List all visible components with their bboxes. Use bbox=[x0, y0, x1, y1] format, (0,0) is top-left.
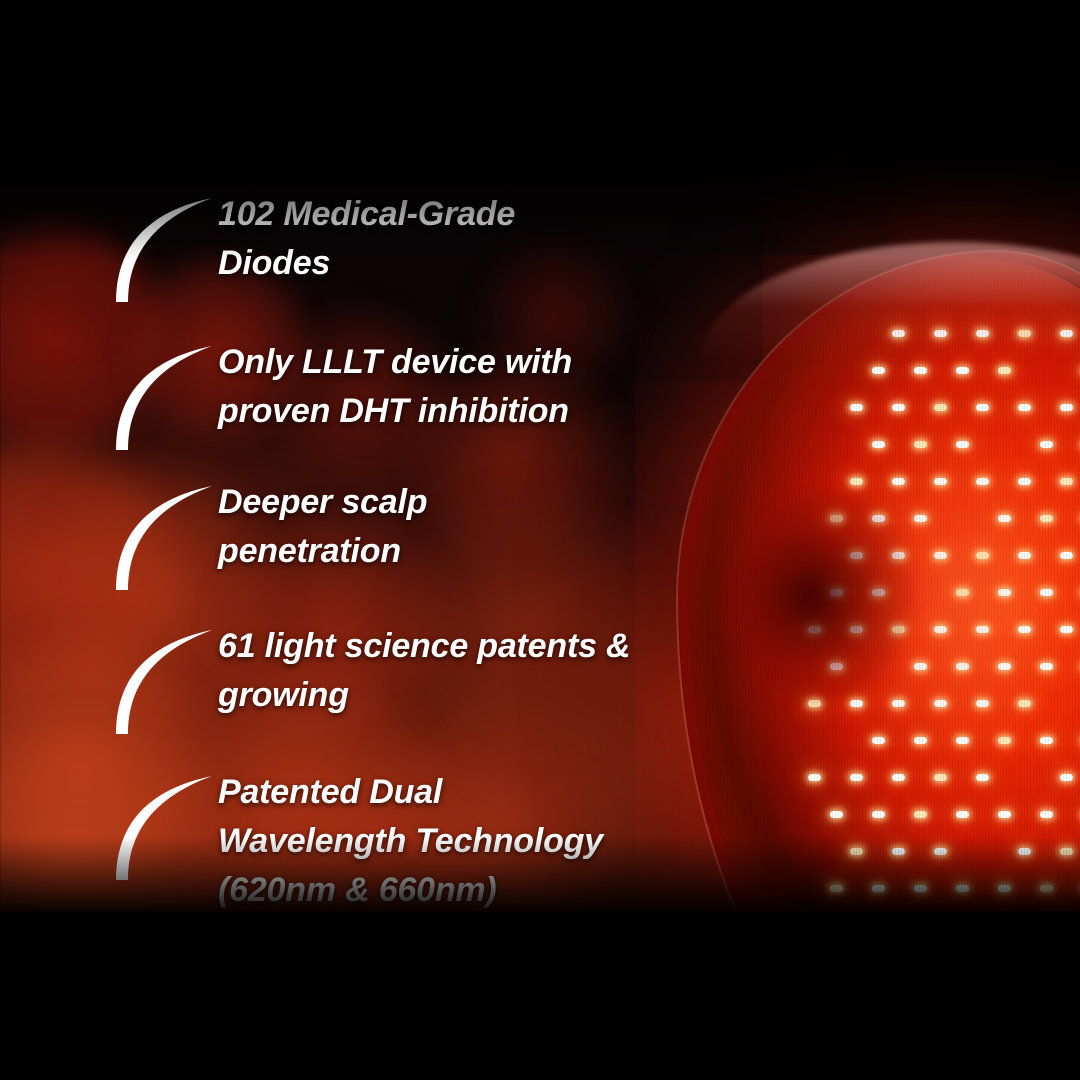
feature-list: 102 Medical-Grade DiodesOnly LLLT device… bbox=[0, 152, 680, 912]
feature-text: Patented Dual Wavelength Technology (620… bbox=[218, 768, 688, 912]
feature-text: 61 light science patents & growing bbox=[218, 622, 688, 720]
arc-bullet-icon bbox=[108, 342, 218, 454]
arc-bullet-icon bbox=[108, 772, 218, 884]
feature-text: 102 Medical-Grade Diodes bbox=[218, 190, 688, 288]
arc-bullet-icon bbox=[108, 626, 218, 738]
arc-bullet-icon bbox=[108, 482, 218, 594]
feature-text: Deeper scalp penetration bbox=[218, 478, 688, 576]
promo-slide: 102 Medical-Grade DiodesOnly LLLT device… bbox=[0, 0, 1080, 1080]
feature-text: Only LLLT device with proven DHT inhibit… bbox=[218, 338, 688, 436]
arc-bullet-icon bbox=[108, 194, 218, 306]
content-band: 102 Medical-Grade DiodesOnly LLLT device… bbox=[0, 152, 1080, 912]
